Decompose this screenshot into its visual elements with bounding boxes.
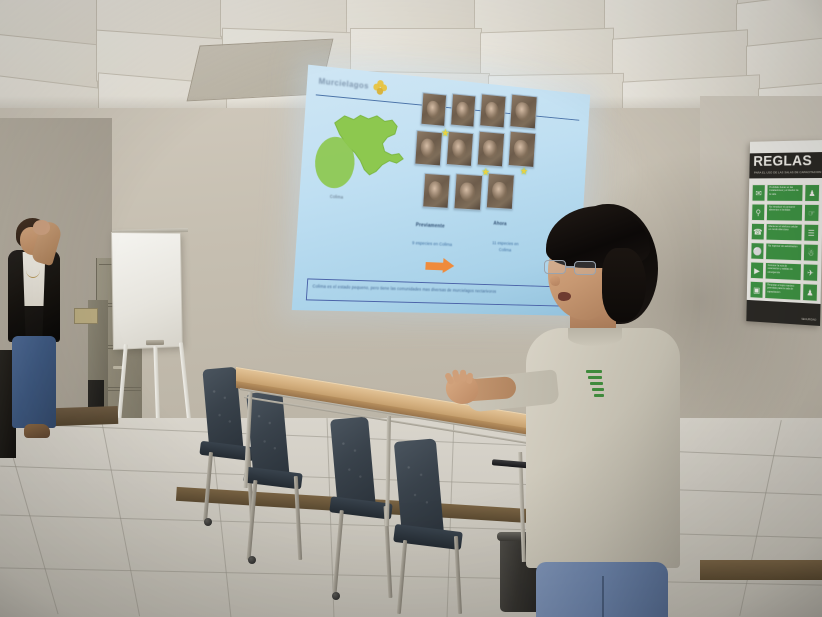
attendee-hand <box>33 220 50 235</box>
bat-photo <box>414 130 442 166</box>
attendee-shoe <box>24 424 50 438</box>
people-group-icon: ♟ <box>802 283 818 302</box>
presenter-collar <box>568 328 622 346</box>
poster-rule-text: Mantener el telefono celular en modo sil… <box>767 224 802 233</box>
poster-rule-text: Conocer la ruta de evacuacion y salidas … <box>766 263 801 276</box>
bat-photo <box>422 173 450 209</box>
no-entry-icon: ⚪ <box>750 242 764 260</box>
presenter-hair-side <box>602 248 646 322</box>
flipchart-board[interactable] <box>111 232 183 350</box>
hand-icon: ☞ <box>804 204 820 222</box>
presenter-person <box>452 196 662 617</box>
poster-subtitle: PARA EL USO DE LAS SALAS DE CAPACITACION <box>754 170 821 175</box>
person-icon: ♟ <box>804 184 820 202</box>
poster-rule-text: No introducir ni consumir alimentos ni b… <box>767 205 802 214</box>
attendee-jeans <box>12 336 56 428</box>
chair-caster <box>248 556 256 564</box>
capacity-icon: ▣ <box>750 281 764 299</box>
phone-off-icon: ☎ <box>751 223 765 241</box>
star-icon: ★ <box>520 167 530 178</box>
chair-caster <box>204 518 212 526</box>
classroom-presentation-photo: Murcielagos Colima ★ <box>0 0 822 617</box>
wall-outlet[interactable] <box>74 308 98 324</box>
exit-icon: ▶ <box>750 261 764 279</box>
presenter-pants-seam <box>602 576 604 617</box>
door-icon: ☰ <box>803 224 819 242</box>
bat-photo <box>509 94 537 130</box>
no-smoking-icon: ✉ <box>752 184 766 201</box>
glasses-icon <box>544 260 600 276</box>
poster-rule-text: Prohibido fumar en las instalaciones y e… <box>767 185 802 197</box>
attendee-person <box>0 218 70 444</box>
group-icon: ☃ <box>803 244 819 262</box>
presenter-shirt <box>526 328 680 568</box>
bat-photo <box>479 93 506 128</box>
no-food-icon: ⚲ <box>751 204 765 222</box>
star-icon: ★ <box>481 168 491 179</box>
bat-photo <box>420 92 446 127</box>
bat-photo <box>477 131 505 168</box>
presenter-nose <box>550 276 560 286</box>
poster-rule-text: Respetar el cupo maximo permitido para l… <box>765 282 800 296</box>
flower-icon <box>373 79 388 95</box>
flipchart-clip[interactable] <box>146 340 164 345</box>
reglas-poster: REGLAS PARA EL USO DE LAS SALAS DE CAPAC… <box>746 140 822 326</box>
before-label: Previamente <box>416 222 445 229</box>
bat-photo <box>508 131 536 168</box>
before-value: 9 especies en Colima <box>411 241 453 250</box>
star-icon: ★ <box>441 128 451 139</box>
poster-title: REGLAS <box>753 154 812 170</box>
chair-caster <box>332 592 340 600</box>
attendee-necklace <box>26 262 40 278</box>
right-arrow-icon <box>425 257 455 273</box>
bat-photo <box>450 93 476 127</box>
running-person-icon: ✈ <box>803 263 819 282</box>
map-caption: Colima <box>330 194 344 200</box>
baseboard <box>700 560 822 580</box>
poster-rule-text: No ingresar sin autorizacion <box>766 244 801 250</box>
shirt-logo <box>584 368 610 402</box>
